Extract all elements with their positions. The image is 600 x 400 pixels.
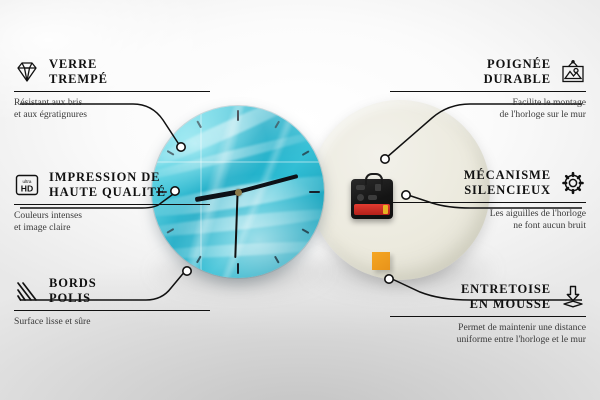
- battery-terminal: [383, 205, 388, 214]
- feature-description: Les aiguilles de l'horloge ne font aucun…: [390, 208, 586, 231]
- gear-icon: [560, 171, 586, 195]
- feature-bords-polis[interactable]: BORDS POLIS Surface lisse et sûre: [14, 276, 210, 328]
- ultra-hd-badge-icon: ultra HD: [14, 173, 40, 197]
- feature-title: MÉCANISME SILENCIEUX: [464, 168, 551, 197]
- feature-header: MÉCANISME SILENCIEUX: [390, 168, 586, 197]
- hanging-picture-frame-icon: [560, 60, 586, 84]
- battery: [354, 204, 390, 215]
- quartz-movement: [351, 179, 393, 219]
- feature-divider: [390, 316, 586, 317]
- feature-title: IMPRESSION DE HAUTE QUALITÉ: [49, 170, 166, 199]
- feature-description: Couleurs intenses et image claire: [14, 210, 210, 233]
- feature-divider: [14, 91, 210, 92]
- feature-description: Permet de maintenir une distance uniform…: [390, 322, 586, 345]
- feature-header: ENTRETOISE EN MOUSSE: [390, 282, 586, 311]
- feature-header: BORDS POLIS: [14, 276, 210, 305]
- feature-divider: [14, 204, 210, 205]
- feature-divider: [14, 310, 210, 311]
- feature-description: Surface lisse et sûre: [14, 316, 210, 328]
- movement-detail: [356, 185, 365, 190]
- feature-verre-trempe[interactable]: VERRE TREMPÉ Résistant aux bris et aux é…: [14, 57, 210, 121]
- feature-title: VERRE TREMPÉ: [49, 57, 108, 86]
- feature-header: ultra HD IMPRESSION DE HAUTE QUALITÉ: [14, 170, 210, 199]
- infographic-canvas: VERRE TREMPÉ Résistant aux bris et aux é…: [0, 0, 600, 400]
- diamond-icon: [14, 60, 40, 84]
- diagonal-stripes-icon: [14, 279, 40, 303]
- feature-title: BORDS POLIS: [49, 276, 97, 305]
- feature-description: Facilite le montage de l'horloge sur le …: [390, 97, 586, 120]
- feature-entretoise-en-mousse[interactable]: ENTRETOISE EN MOUSSE Permet de maintenir…: [390, 282, 586, 346]
- foam-spacer: [372, 252, 390, 270]
- feature-impression-haute-qualite[interactable]: ultra HD IMPRESSION DE HAUTE QUALITÉ Cou…: [14, 170, 210, 234]
- feature-divider: [390, 91, 586, 92]
- feature-poignee-durable[interactable]: POIGNÉE DURABLE Facilite le montage de l…: [390, 57, 586, 121]
- feature-header: POIGNÉE DURABLE: [390, 57, 586, 86]
- movement-detail: [375, 184, 381, 191]
- feature-divider: [390, 202, 586, 203]
- feature-description: Résistant aux bris et aux égratignures: [14, 97, 210, 120]
- feature-title: ENTRETOISE EN MOUSSE: [461, 282, 551, 311]
- svg-text:HD: HD: [21, 183, 33, 193]
- arrow-down-layers-icon: [560, 285, 586, 309]
- feature-title: POIGNÉE DURABLE: [484, 57, 551, 86]
- movement-detail: [357, 194, 364, 201]
- feature-mecanisme-silencieux[interactable]: MÉCANISME SILENCIEUX Les aiguilles de l'…: [390, 168, 586, 232]
- feature-header: VERRE TREMPÉ: [14, 57, 210, 86]
- movement-detail: [368, 195, 377, 200]
